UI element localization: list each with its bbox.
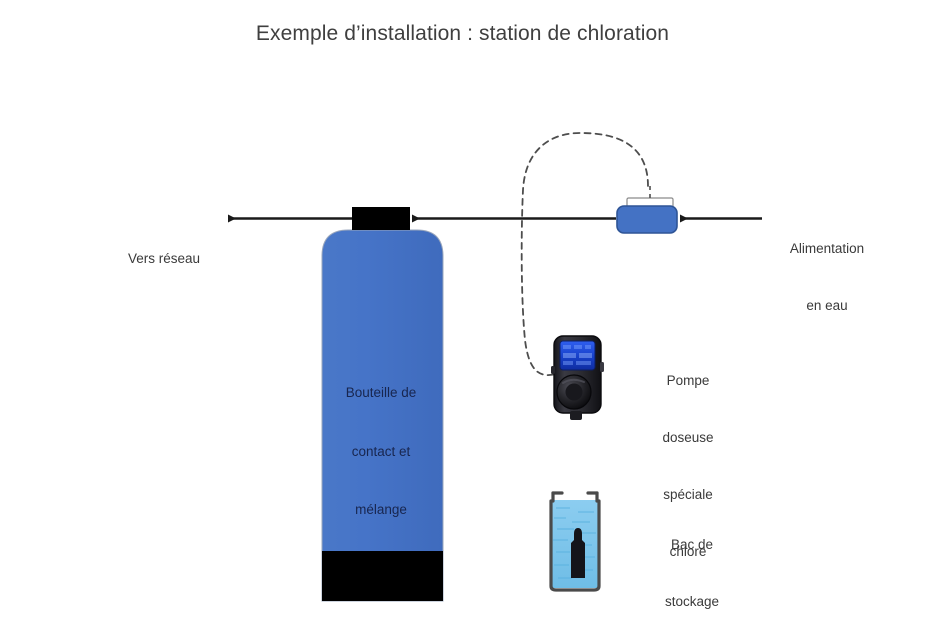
label-pompe-line-1: doseuse: [636, 428, 740, 447]
storage-tank: [551, 493, 599, 590]
label-vers-reseau: Vers réseau: [128, 211, 200, 306]
pump-foot: [570, 411, 582, 420]
label-alimentation-line-0: Alimentation: [762, 239, 892, 258]
label-vers-reseau-line-0: Vers réseau: [128, 249, 200, 268]
dosing-pump: [551, 336, 604, 420]
pump-head-hub: [566, 384, 583, 401]
label-bac-line-0: Bac de: [628, 535, 756, 554]
label-bac-de-stockage: Bac de stockage produit de 50 litres: [628, 497, 756, 639]
pump-side-button: [600, 362, 604, 372]
diagram-canvas: Exemple d’installation : station de chlo…: [0, 0, 925, 639]
label-pompe-line-0: Pompe: [636, 371, 740, 390]
pump-cable-gland: [551, 366, 555, 374]
label-bac-line-1: stockage: [628, 592, 756, 611]
label-bouteille-line-2: mélange: [316, 500, 446, 520]
contact-tank-base: [322, 551, 443, 601]
label-alimentation-en-eau: Alimentation en eau: [762, 201, 892, 353]
injection-point-unit: [617, 186, 677, 233]
contact-tank-valve-head: [352, 207, 410, 230]
label-bouteille-de-contact: Bouteille de contact et mélange: [316, 344, 446, 559]
label-bouteille-line-1: contact et: [316, 442, 446, 462]
injection-body: [617, 206, 677, 233]
label-alimentation-line-1: en eau: [762, 296, 892, 315]
label-bouteille-line-0: Bouteille de: [316, 383, 446, 403]
